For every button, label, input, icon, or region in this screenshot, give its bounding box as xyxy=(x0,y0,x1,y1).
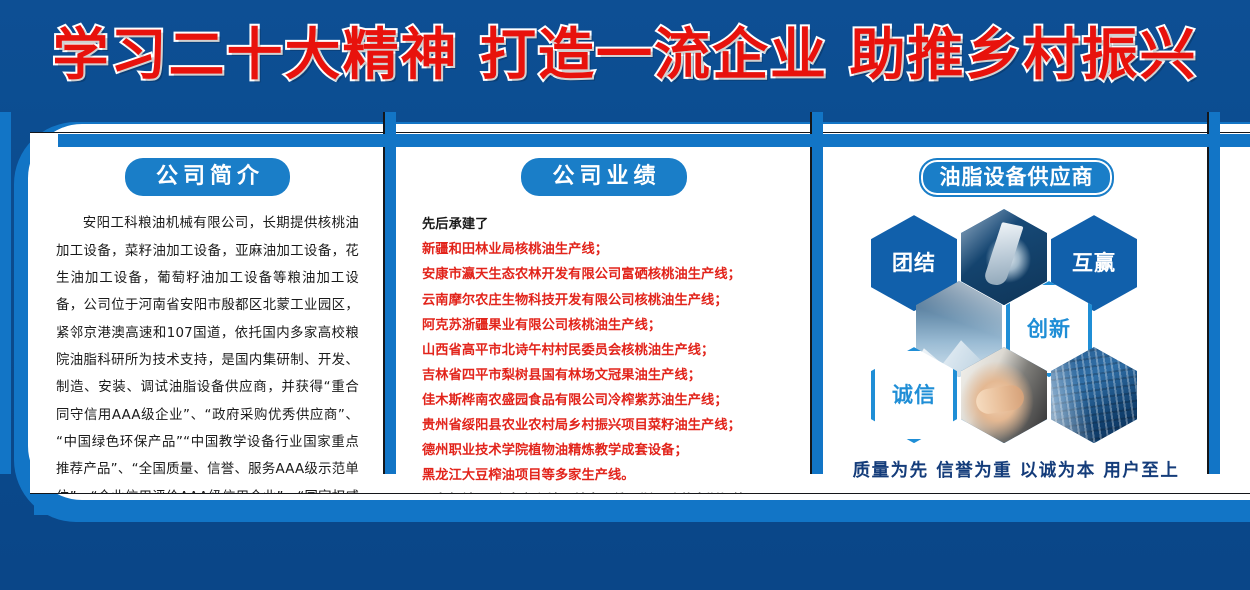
performance-item: 佳木斯桦南农盛园食品有限公司冷榨紫苏油生产线； xyxy=(422,388,786,413)
performance-item: 云南摩尔农庄生物科技开发有限公司核桃油生产线； xyxy=(422,288,786,313)
panel-divider-1 xyxy=(385,112,396,474)
panel-supplier: 油脂设备供应商 团结 互赢 xyxy=(823,132,1209,494)
performance-item: 新疆和田林业局核桃油生产线； xyxy=(422,237,786,262)
supplier-slogan: 质量为先 信誉为重 以诚为本 用户至上 xyxy=(837,457,1195,482)
company-profile-text: 安阳工科粮油机械有限公司，长期提供核桃油加工设备，菜籽油加工设备，亚麻油加工设备… xyxy=(56,210,359,494)
hexagon-cluster: 团结 互赢 创新 xyxy=(837,209,1209,441)
board-header: 学习二十大精神 打造一流企业 助推乡村振兴 xyxy=(0,0,1250,112)
panel-company-performance: 公司业绩 先后承建了 新疆和田林业局核桃油生产线； 安康市瀛天生态农林开发有限公… xyxy=(396,132,812,494)
header-title: 学习二十大精神 打造一流企业 助推乡村振兴 xyxy=(41,28,1210,84)
top-rail-divider xyxy=(58,134,1250,147)
performance-list: 先后承建了 新疆和田林业局核桃油生产线； 安康市瀛天生态农林开发有限公司富硒核桃… xyxy=(422,212,786,494)
bottom-rail-divider xyxy=(34,502,1250,515)
hexagon-label: 创新 xyxy=(1027,319,1071,340)
performance-item: 黑龙江大豆榨油项目等多家生产线。 xyxy=(422,463,786,488)
performance-lead: 先后承建了 xyxy=(422,212,786,237)
content-sheet: 公司简介 安阳工科粮油机械有限公司，长期提供核桃油加工设备，菜籽油加工设备，亚麻… xyxy=(0,112,1250,532)
hexagon-label: 团结 xyxy=(892,253,936,274)
performance-item: 阿克苏浙疆果业有限公司核桃油生产线； xyxy=(422,313,786,338)
hexagon-label: 诚信 xyxy=(892,385,936,406)
promotional-board: 学习二十大精神 打造一流企业 助推乡村振兴 公司简介 安阳工科粮油机械有限公司，… xyxy=(0,0,1250,590)
panel-divider-left xyxy=(0,112,11,474)
performance-item: 山西省高平市北诗午村村民委员会核桃油生产线； xyxy=(422,338,786,363)
performance-item: 安康市瀛天生态农林开发有限公司富硒核桃油生产线； xyxy=(422,262,786,287)
performance-tail: 设备畅销26个省市和地区并出口俄罗斯、哈萨克斯坦等国家。 xyxy=(422,488,786,494)
panel-divider-right xyxy=(1209,112,1220,474)
hexagon-label: 互赢 xyxy=(1072,253,1116,274)
panel-company-profile: 公司简介 安阳工科粮油机械有限公司，长期提供核桃油加工设备，菜籽油加工设备，亚麻… xyxy=(30,132,385,494)
performance-item: 贵州省绥阳县农业农村局乡村振兴项目菜籽油生产线； xyxy=(422,413,786,438)
panel-title-company-profile: 公司简介 xyxy=(125,158,290,196)
panel-title-company-performance: 公司业绩 xyxy=(521,158,686,196)
performance-item: 德州职业技术学院植物油精炼教学成套设备； xyxy=(422,438,786,463)
panel-title-supplier: 油脂设备供应商 xyxy=(919,158,1114,197)
panel-divider-2 xyxy=(812,112,823,474)
performance-item: 吉林省四平市梨树县国有林场文冠果油生产线； xyxy=(422,363,786,388)
